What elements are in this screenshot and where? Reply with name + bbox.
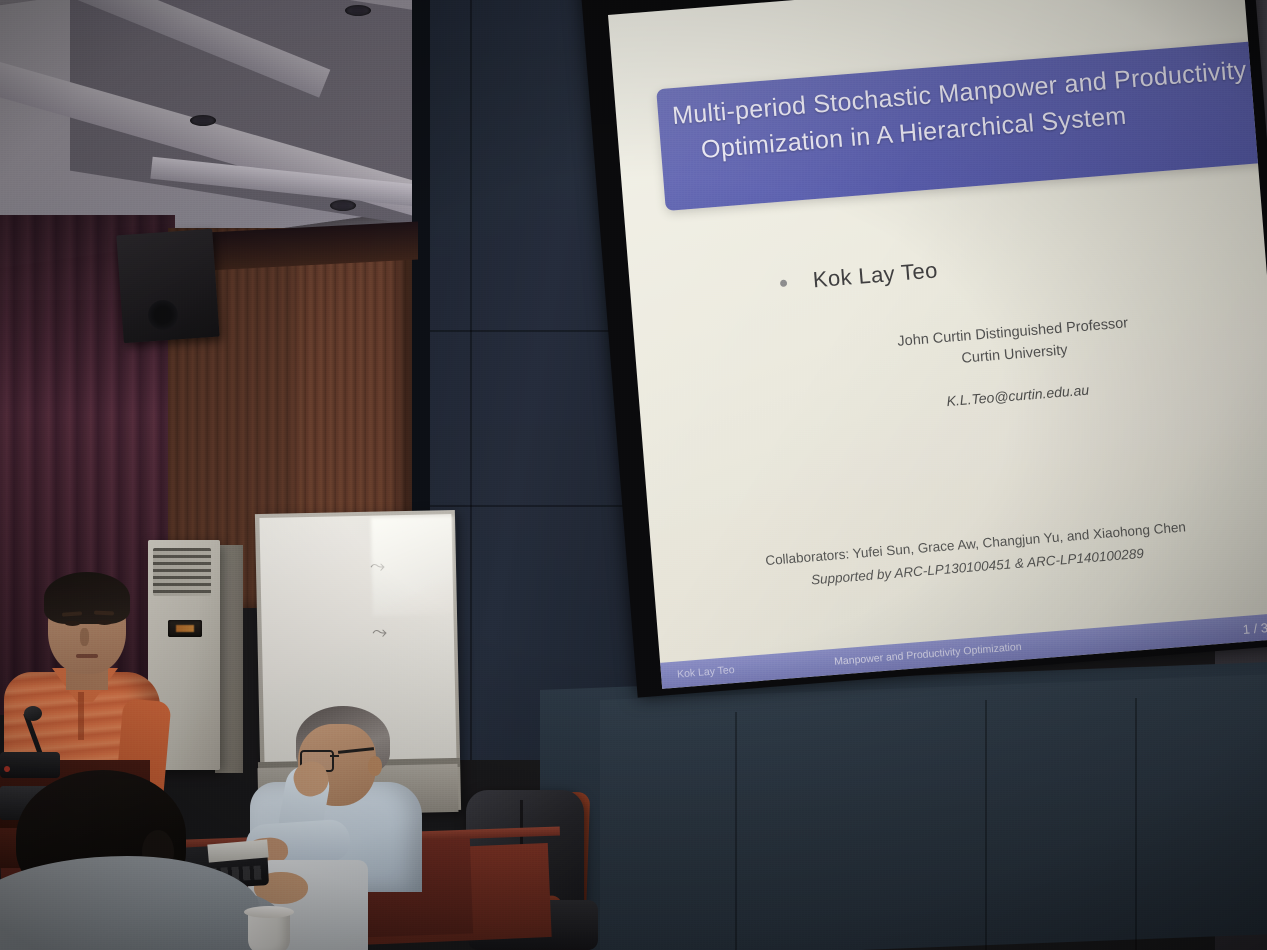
collaborators-block: Collaborators: Yufei Sun, Grace Aw, Chan…	[686, 510, 1267, 602]
slide: Multi-period Stochastic Manpower and Pro…	[608, 0, 1267, 689]
person-standing-nose	[80, 628, 89, 646]
bullet-icon	[780, 279, 788, 287]
screen-surface: Multi-period Stochastic Manpower and Pro…	[608, 0, 1267, 689]
air-conditioner-vent-icon	[153, 548, 211, 596]
microphone-led-indicator	[4, 766, 10, 772]
photo-scene: Multi-period Stochastic Manpower and Pro…	[0, 0, 1267, 950]
microphone-icon	[24, 706, 42, 721]
ceiling-light-icon	[330, 200, 356, 211]
air-conditioner-display-readout	[176, 625, 194, 632]
whiteboard-mark: ⤳	[372, 622, 387, 644]
wall-seam	[470, 0, 472, 760]
footer-page-number: 1 / 34	[1242, 617, 1267, 636]
ceiling-light-icon	[190, 115, 216, 126]
ceiling-light-icon	[345, 5, 371, 16]
person-standing-mouth	[76, 654, 98, 658]
author-row: Kok Lay Teo	[779, 236, 1200, 296]
microphone-base	[0, 752, 60, 778]
author-name: Kok Lay Teo	[812, 257, 939, 293]
person-standing-hair	[44, 572, 130, 624]
affiliation: John Curtin Distinguished Professor Curt…	[803, 305, 1225, 383]
glasses-bridge-icon	[330, 755, 339, 757]
whiteboard-glare	[371, 516, 455, 616]
loudspeaker-driver-icon	[148, 300, 178, 330]
paper-cup-rim	[244, 906, 294, 918]
footer-title: Manpower and Productivity Optimization	[734, 641, 1022, 676]
person-standing-eye	[65, 621, 80, 626]
footer-author: Kok Lay Teo	[661, 664, 735, 682]
person-standing-eye	[97, 620, 112, 625]
person-seated-ear	[368, 756, 382, 776]
projection-screen: Multi-period Stochastic Manpower and Pro…	[560, 0, 1260, 750]
person-standing-placket	[78, 692, 84, 740]
